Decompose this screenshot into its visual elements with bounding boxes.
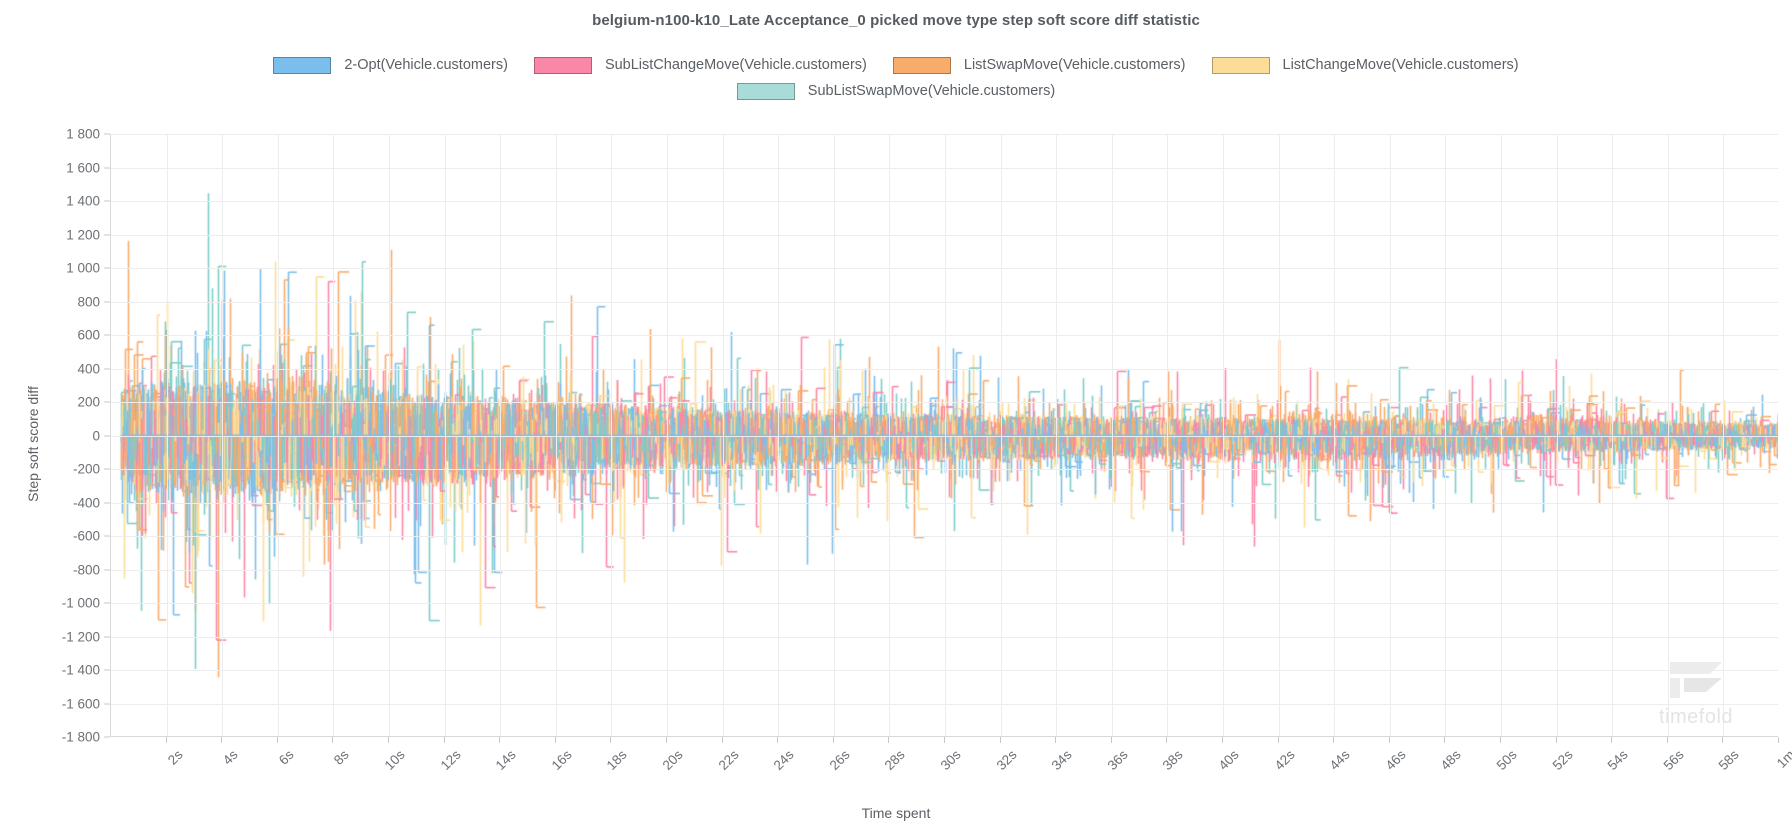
y-axis-tick-label: 200: [10, 395, 100, 410]
y-axis-tick-label: 800: [10, 294, 100, 309]
y-axis-tick-label: 0: [10, 428, 100, 443]
gridline-vertical: [1612, 134, 1613, 736]
gridline-vertical: [333, 134, 334, 736]
y-axis-tick-label: 1 800: [10, 127, 100, 142]
gridline-vertical: [1334, 134, 1335, 736]
gridline-vertical: [1112, 134, 1113, 736]
x-axis-tick-mark: [1722, 737, 1723, 743]
legend-label: SubListChangeMove(Vehicle.customers): [605, 57, 867, 73]
legend-item-sublistchangemove[interactable]: SubListChangeMove(Vehicle.customers): [534, 57, 867, 74]
y-axis-tick-label: 1 000: [10, 261, 100, 276]
x-axis-tick-mark: [1055, 737, 1056, 743]
gridline-vertical: [723, 134, 724, 736]
y-axis-tick-label: 600: [10, 328, 100, 343]
gridline-vertical: [1056, 134, 1057, 736]
x-axis-tick-mark: [1166, 737, 1167, 743]
legend-label: ListSwapMove(Vehicle.customers): [964, 57, 1186, 73]
y-axis-tick-label: 1 400: [10, 194, 100, 209]
x-axis-tick-mark: [1611, 737, 1612, 743]
x-axis-tick-mark: [1222, 737, 1223, 743]
y-axis-tick-label: -400: [10, 495, 100, 510]
x-axis-tick-mark: [555, 737, 556, 743]
x-axis-tick-mark: [332, 737, 333, 743]
x-axis-tick-mark: [666, 737, 667, 743]
legend-item-sublistswapmove[interactable]: SubListSwapMove(Vehicle.customers): [737, 83, 1055, 100]
gridline-vertical: [445, 134, 446, 736]
gridline-vertical: [1723, 134, 1724, 736]
x-axis-tick-mark: [1444, 737, 1445, 743]
gridline-vertical: [611, 134, 612, 736]
gridline-vertical: [389, 134, 390, 736]
legend-swatch-icon: [273, 57, 331, 74]
legend-label: SubListSwapMove(Vehicle.customers): [808, 83, 1055, 99]
gridline-vertical: [500, 134, 501, 736]
x-axis-tick-mark: [1278, 737, 1279, 743]
y-axis-tick-label: -1 000: [10, 596, 100, 611]
x-axis-tick-mark: [221, 737, 222, 743]
x-axis-tick-mark: [610, 737, 611, 743]
x-axis-tick-mark: [888, 737, 889, 743]
gridline-vertical: [556, 134, 557, 736]
x-axis-tick-mark: [1000, 737, 1001, 743]
gridline-vertical: [667, 134, 668, 736]
gridline-vertical: [1279, 134, 1280, 736]
x-axis-tick-mark: [444, 737, 445, 743]
y-axis-tick-label: -600: [10, 529, 100, 544]
x-axis-tick-mark: [944, 737, 945, 743]
y-axis-tick-label: 1 600: [10, 160, 100, 175]
gridline-vertical: [1668, 134, 1669, 736]
x-axis-tick-mark: [1667, 737, 1668, 743]
y-axis-tick-label: -1 800: [10, 730, 100, 745]
gridline-vertical: [1390, 134, 1391, 736]
y-axis-tick-label: -200: [10, 462, 100, 477]
legend-item-2-opt[interactable]: 2-Opt(Vehicle.customers): [273, 57, 508, 74]
gridline-vertical: [1223, 134, 1224, 736]
legend-swatch-icon: [893, 57, 951, 74]
legend-item-listswapmove[interactable]: ListSwapMove(Vehicle.customers): [893, 57, 1186, 74]
x-axis-tick-mark: [1111, 737, 1112, 743]
gridline-vertical: [1167, 134, 1168, 736]
y-axis-tick-label: -1 200: [10, 629, 100, 644]
x-axis-tick-mark: [166, 737, 167, 743]
gridline-vertical: [1001, 134, 1002, 736]
x-axis-tick-mark: [1500, 737, 1501, 743]
x-axis-tick-mark: [777, 737, 778, 743]
gridline-vertical: [222, 134, 223, 736]
chart-page: belgium-n100-k10_Late Acceptance_0 picke…: [0, 0, 1792, 832]
x-axis-tick-mark: [388, 737, 389, 743]
legend-row-1: 2-Opt(Vehicle.customers) SubListChangeMo…: [0, 52, 1792, 78]
gridline-vertical: [834, 134, 835, 736]
x-axis-tick-mark: [1389, 737, 1390, 743]
x-axis-tick-mark: [1778, 737, 1779, 743]
legend-label: ListChangeMove(Vehicle.customers): [1283, 57, 1519, 73]
x-axis-tick-mark: [1556, 737, 1557, 743]
y-axis-tick-label: 1 200: [10, 227, 100, 242]
plot-area[interactable]: [110, 134, 1778, 737]
legend-swatch-icon: [1212, 57, 1270, 74]
gridline-vertical: [1557, 134, 1558, 736]
gridline-vertical: [1445, 134, 1446, 736]
x-axis-tick-mark: [277, 737, 278, 743]
gridline-vertical: [889, 134, 890, 736]
legend-item-listchangemove[interactable]: ListChangeMove(Vehicle.customers): [1212, 57, 1519, 74]
legend-label: 2-Opt(Vehicle.customers): [344, 57, 508, 73]
legend-swatch-icon: [534, 57, 592, 74]
y-axis-tick-label: -1 400: [10, 663, 100, 678]
page-title: belgium-n100-k10_Late Acceptance_0 picke…: [0, 12, 1792, 29]
legend-row-2: SubListSwapMove(Vehicle.customers): [0, 78, 1792, 104]
x-axis-tick-mark: [499, 737, 500, 743]
legend-swatch-icon: [737, 83, 795, 100]
gridline-vertical: [945, 134, 946, 736]
x-axis-tick-mark: [1333, 737, 1334, 743]
gridline-vertical: [1501, 134, 1502, 736]
gridline-vertical: [778, 134, 779, 736]
gridline-vertical: [278, 134, 279, 736]
x-axis-tick-mark: [833, 737, 834, 743]
y-axis-tick-label: -1 600: [10, 696, 100, 711]
y-axis-tick-label: 400: [10, 361, 100, 376]
x-axis-tick-mark: [722, 737, 723, 743]
gridline-vertical: [167, 134, 168, 736]
chart-legend: 2-Opt(Vehicle.customers) SubListChangeMo…: [0, 52, 1792, 104]
y-axis-tick-label: -800: [10, 562, 100, 577]
